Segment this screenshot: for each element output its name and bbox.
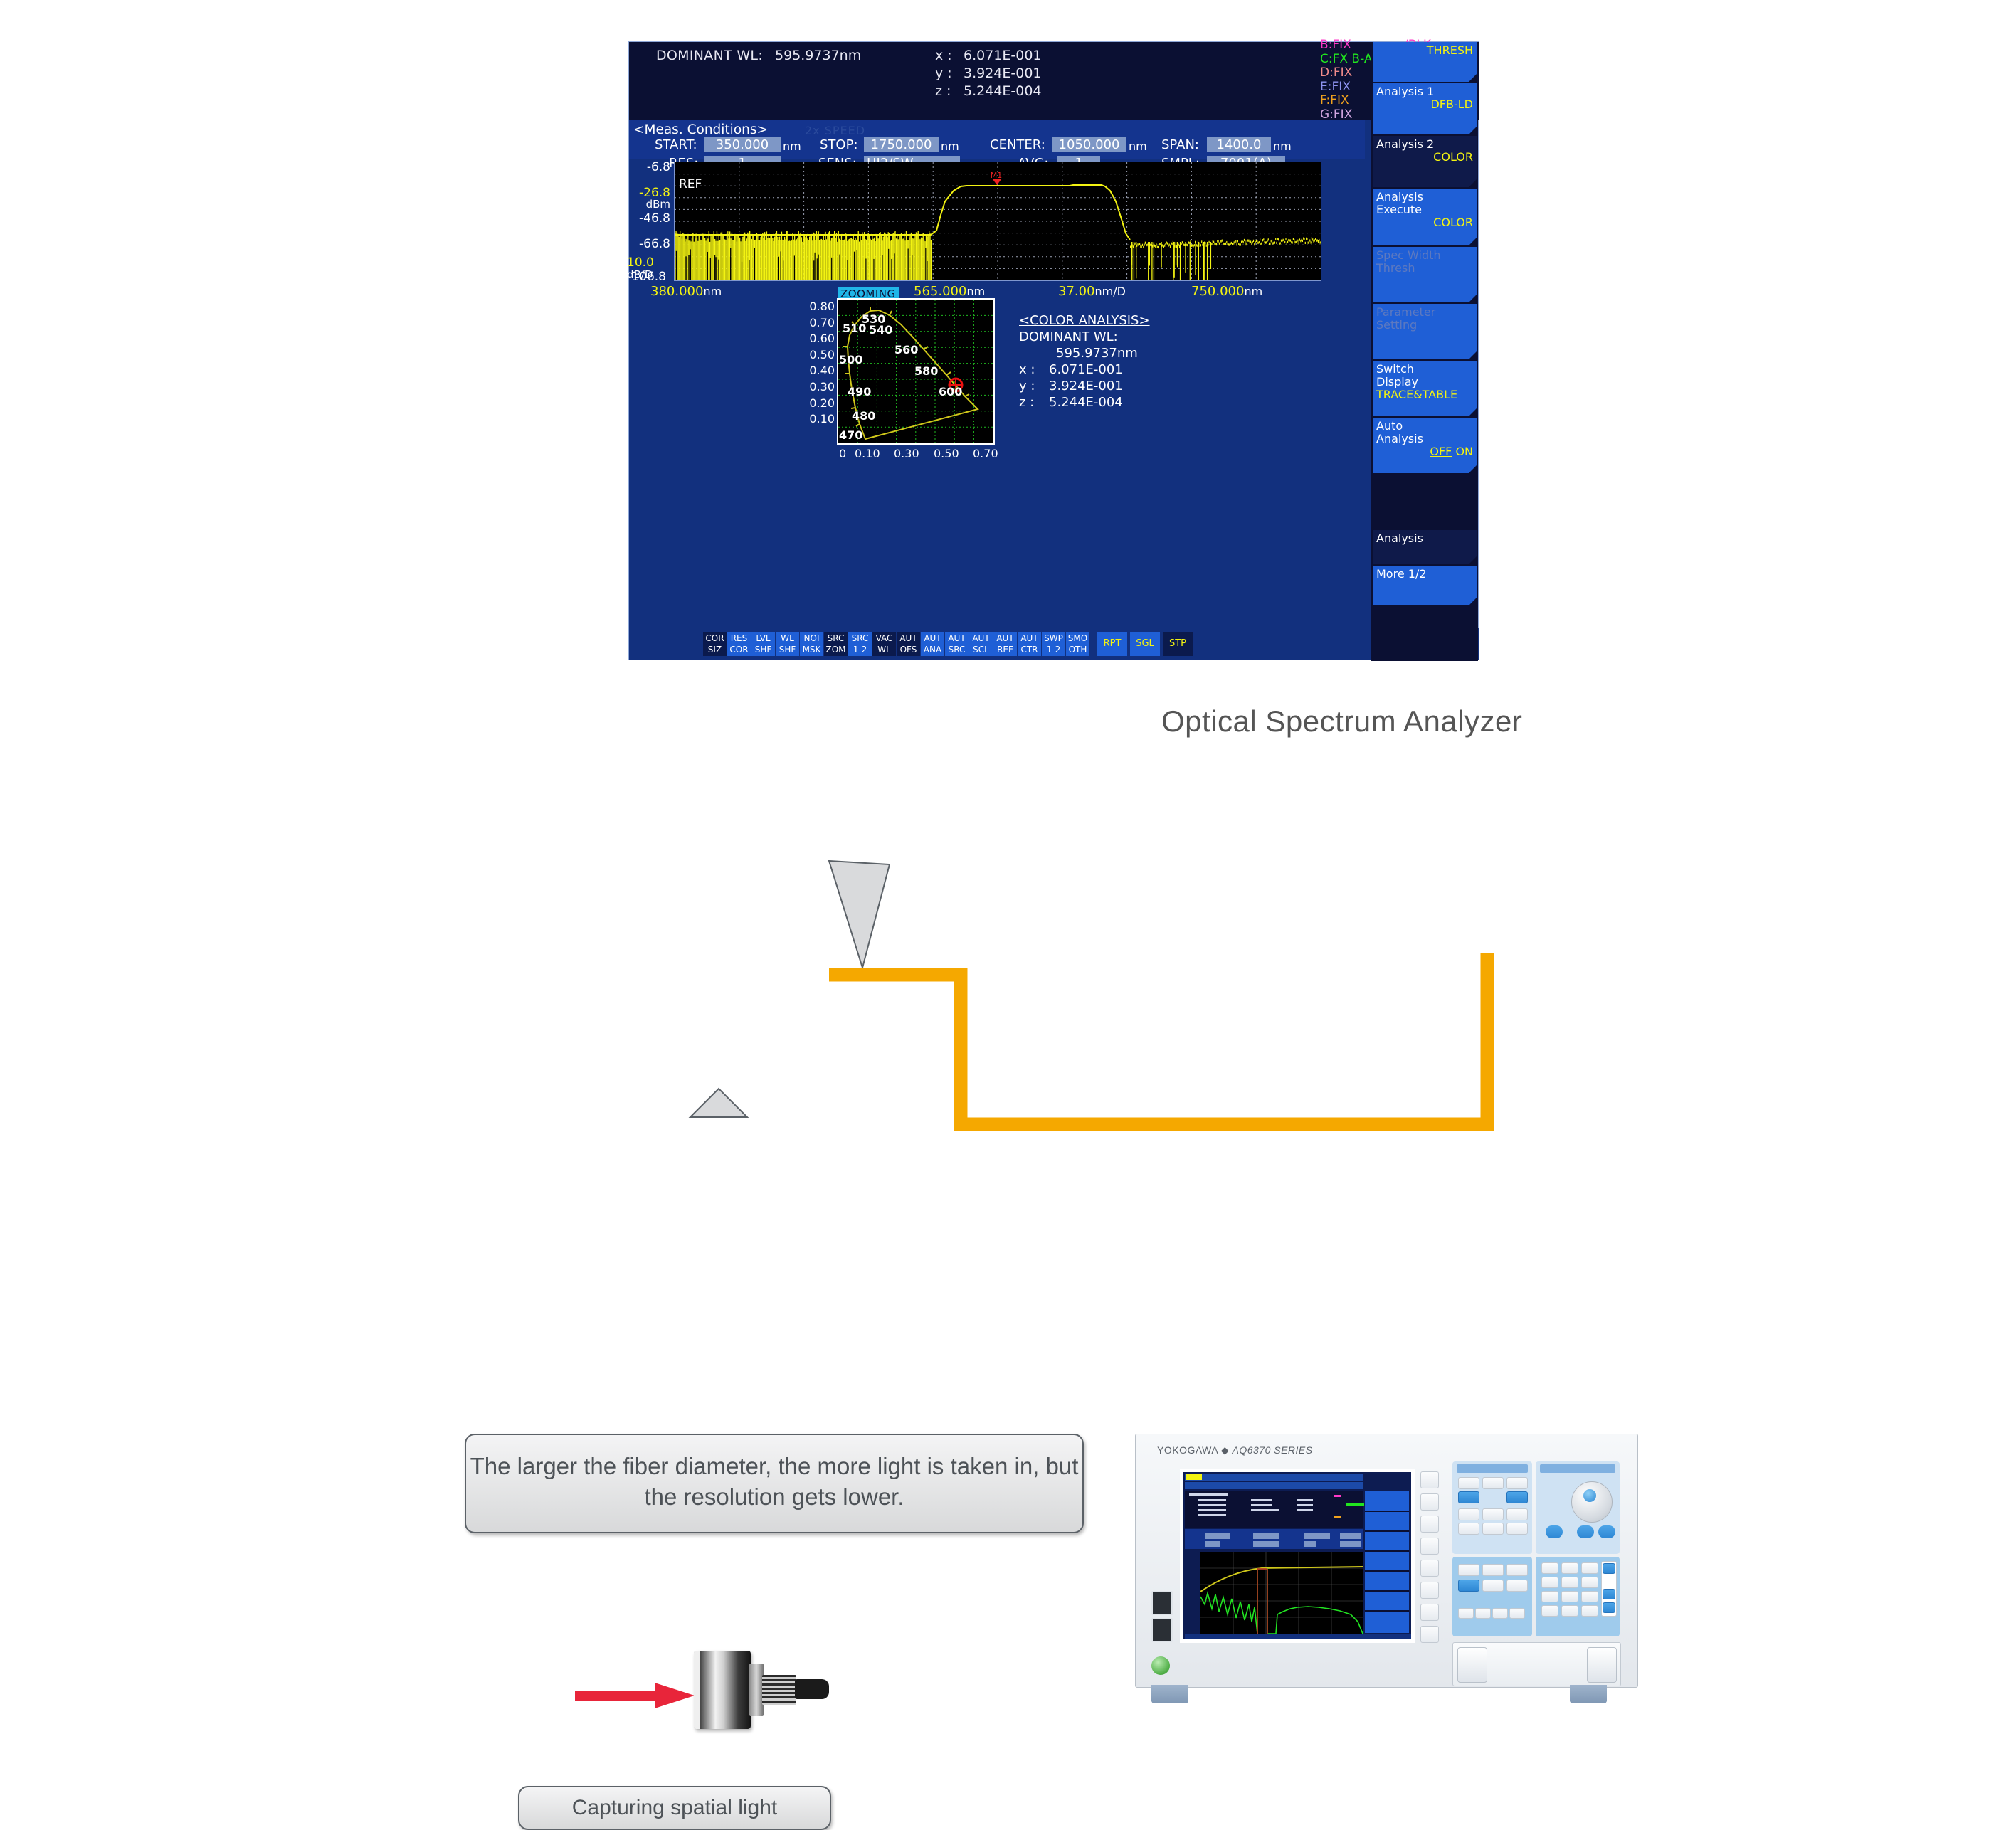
cie-y-tick: 0.60 bbox=[808, 332, 835, 345]
color-analysis-y: y :3.924E-001 bbox=[1019, 378, 1204, 394]
key-line-1: SWP bbox=[1042, 633, 1065, 644]
cie-wavelength-label: 490 bbox=[848, 385, 871, 398]
softkey-title-line: Auto bbox=[1376, 420, 1473, 433]
keypanel-setting-header bbox=[1457, 1464, 1528, 1473]
softkey-corner-icon bbox=[1469, 556, 1477, 564]
x-stop-label: 750.000nm bbox=[1191, 284, 1262, 299]
keypanel-knob-header bbox=[1540, 1464, 1615, 1473]
key-trace[interactable] bbox=[1506, 1508, 1528, 1520]
meas-conditions-title: <Meas. Conditions> bbox=[633, 122, 768, 137]
device-brand-label: YOKOGAWA ◆ AQ6370 SERIES bbox=[1157, 1444, 1313, 1456]
key-other-2[interactable] bbox=[1475, 1608, 1491, 1619]
key-peak-search[interactable] bbox=[1482, 1523, 1504, 1535]
device-display[interactable] bbox=[1180, 1469, 1415, 1643]
cie-x-tick: 0.30 bbox=[894, 447, 919, 460]
key-other-1[interactable] bbox=[1458, 1608, 1474, 1619]
keypanel-setting bbox=[1452, 1461, 1532, 1554]
cie-wavelength-label: 480 bbox=[852, 409, 875, 423]
key-line-1: SMO bbox=[1066, 633, 1089, 644]
y-tick-0: -6.8 bbox=[629, 160, 670, 174]
softkey-more-1-2[interactable]: More 1/2 bbox=[1373, 566, 1477, 605]
numkey-9[interactable] bbox=[1581, 1562, 1598, 1574]
bottom-key-noi-msk[interactable]: NOIMSK bbox=[800, 632, 823, 656]
bottom-key-aut-scl[interactable]: AUTSCL bbox=[969, 632, 993, 656]
incoming-light-arrow bbox=[575, 1683, 696, 1708]
softkey-1[interactable] bbox=[1420, 1471, 1439, 1488]
softkey-title-line: More 1/2 bbox=[1376, 568, 1473, 581]
collimator-barrel bbox=[694, 1651, 751, 1729]
softkey-3[interactable] bbox=[1420, 1516, 1439, 1533]
numkey-6[interactable] bbox=[1581, 1577, 1598, 1588]
color-analysis-title: <COLOR ANALYSIS> bbox=[1019, 312, 1204, 329]
cie-x-tick: 0.50 bbox=[934, 447, 959, 460]
softkey-sub-on[interactable]: ON bbox=[1455, 445, 1473, 458]
start-unit: nm bbox=[783, 139, 801, 153]
y-tick-3: -66.8 bbox=[629, 237, 670, 251]
softkey-7[interactable] bbox=[1420, 1604, 1439, 1621]
unit-key-2[interactable] bbox=[1603, 1589, 1615, 1599]
bottom-key-vac-wl[interactable]: VACWL bbox=[872, 632, 896, 656]
cie-y-tick: 0.30 bbox=[808, 380, 835, 393]
softkey-corner-icon bbox=[1469, 465, 1477, 473]
optical-port-panel bbox=[1452, 1642, 1621, 1686]
x-perdiv-label: 37.00nm/D bbox=[1058, 284, 1126, 299]
key-marker[interactable] bbox=[1458, 1523, 1479, 1535]
softkey-corner-icon bbox=[1469, 598, 1477, 605]
key-line-2: OFS bbox=[897, 644, 920, 655]
bottom-key-aut-ofs[interactable]: AUTOFS bbox=[897, 632, 920, 656]
color-analysis-readout: <COLOR ANALYSIS> DOMINANT WL: 595.9737nm… bbox=[1019, 312, 1204, 411]
bottom-key-smo-oth[interactable]: SMOOTH bbox=[1066, 632, 1089, 656]
header-x-row: x :6.071E-001 bbox=[935, 48, 1042, 63]
softkey-auto-analysis[interactable]: AutoAnalysisOFF ON bbox=[1373, 418, 1477, 473]
softkey-sub: COLOR bbox=[1376, 216, 1473, 229]
header-z-row: z :5.244E-004 bbox=[935, 83, 1042, 99]
softkey-title-line: Analysis 2 bbox=[1376, 138, 1473, 151]
key-line-1: AUT bbox=[897, 633, 920, 644]
osa-screenshot-panel: DOMINANT WL: 595.9737nm x :6.071E-001 y … bbox=[628, 41, 1479, 660]
softkey-sub-off[interactable]: OFF bbox=[1430, 445, 1452, 458]
softkey-corner-icon bbox=[1469, 351, 1477, 359]
softkey-thresh[interactable]: THRESH bbox=[1373, 42, 1477, 82]
softkey-title-line: Analysis bbox=[1376, 191, 1473, 203]
callout-fiber-diameter: The larger the fiber diameter, the more … bbox=[465, 1434, 1084, 1533]
softkey-title-line: Thresh bbox=[1376, 262, 1473, 275]
cie-chromaticity-diagram: 0.800.700.600.500.400.300.200.10 bbox=[811, 298, 996, 462]
collimator-lens-face bbox=[694, 1651, 700, 1729]
y-tick-2: -46.8 bbox=[629, 211, 670, 226]
key-auto[interactable] bbox=[1506, 1523, 1528, 1535]
bottom-key-aut-ref[interactable]: AUTREF bbox=[993, 632, 1017, 656]
usb-port-1[interactable] bbox=[1151, 1591, 1173, 1615]
key-line-1: AUT bbox=[993, 633, 1017, 644]
cie-y-tick: 0.70 bbox=[808, 316, 835, 329]
key-line-1: AUT bbox=[921, 633, 944, 644]
center-unit: nm bbox=[1129, 139, 1147, 153]
key-span[interactable] bbox=[1482, 1477, 1504, 1489]
numkey-0[interactable] bbox=[1541, 1605, 1558, 1617]
up-button[interactable] bbox=[1598, 1525, 1615, 1538]
softkey-title-line: Analysis 1 bbox=[1376, 85, 1473, 98]
trace-legend-name: C:FX B-A bbox=[1320, 53, 1372, 67]
key-line-2: SCL bbox=[969, 644, 993, 655]
span-label: SPAN: bbox=[1161, 137, 1199, 152]
fiber-and-tails bbox=[0, 669, 2016, 1237]
keypanel-system bbox=[1452, 1557, 1532, 1636]
softkey-analysis-execute[interactable]: AnalysisExecuteCOLOR bbox=[1373, 189, 1477, 245]
softkey-8[interactable] bbox=[1420, 1626, 1439, 1643]
key-line-2: COR bbox=[727, 644, 751, 655]
softkey-2[interactable] bbox=[1420, 1493, 1439, 1511]
cie-wavelength-label: 600 bbox=[939, 385, 962, 398]
numkey-2[interactable] bbox=[1561, 1591, 1578, 1602]
device-foot-left bbox=[1151, 1685, 1188, 1703]
key-line-2: MSK bbox=[800, 644, 823, 655]
cie-wavelength-label: 560 bbox=[894, 343, 918, 356]
knob-indicator bbox=[1583, 1489, 1596, 1502]
scale-value: 10.0 bbox=[627, 255, 668, 270]
spectrum-plot[interactable]: M1 bbox=[674, 162, 1321, 281]
key-print[interactable] bbox=[1482, 1580, 1504, 1592]
key-local[interactable] bbox=[1506, 1580, 1528, 1592]
cie-x-tick: 0.70 bbox=[973, 447, 998, 460]
meas-conditions-block: <Meas. Conditions> 2x SPEED START: 350.0… bbox=[629, 120, 1365, 159]
cie-y-tick: 0.10 bbox=[808, 412, 835, 425]
cie-y-tick: 0.50 bbox=[808, 348, 835, 361]
key-line-2: 1-2 bbox=[1042, 644, 1065, 655]
cie-wavelength-label: 540 bbox=[869, 323, 892, 337]
fiber-ferrule bbox=[762, 1675, 796, 1705]
bottom-key-bar: CORSIZRESCORLVLSHFWLSHFNOIMSKSRCZOMSRC1-… bbox=[629, 628, 1479, 660]
start-value[interactable]: 350.000 bbox=[704, 137, 781, 152]
key-level[interactable] bbox=[1506, 1477, 1528, 1489]
key-line-1: AUT bbox=[969, 633, 993, 644]
softkey-title-line: Analysis bbox=[1376, 433, 1473, 445]
color-analysis-z: z :5.244E-004 bbox=[1019, 394, 1204, 411]
key-setup[interactable] bbox=[1458, 1508, 1479, 1520]
softkey-6[interactable] bbox=[1420, 1582, 1439, 1599]
ref-line-label: REF bbox=[679, 177, 702, 191]
key-line-1: SRC bbox=[848, 633, 872, 644]
bottom-key-wl-shf[interactable]: WLSHF bbox=[776, 632, 799, 656]
y-unit-dbm: dBm bbox=[629, 198, 670, 211]
softkey-sub: THRESH bbox=[1376, 44, 1473, 57]
numkey-sign[interactable] bbox=[1581, 1605, 1598, 1617]
bottom-key-rpt[interactable]: RPT bbox=[1097, 632, 1127, 656]
softkey-corner-icon bbox=[1469, 295, 1477, 302]
span-unit: nm bbox=[1273, 139, 1292, 153]
key-appl[interactable] bbox=[1458, 1564, 1479, 1576]
numkey-4[interactable] bbox=[1541, 1577, 1558, 1588]
numkey-5[interactable] bbox=[1561, 1577, 1578, 1588]
numkey-dot[interactable] bbox=[1561, 1605, 1578, 1617]
stop-label: STOP: bbox=[820, 137, 858, 152]
key-line-2: ZOM bbox=[824, 644, 848, 655]
down-button[interactable] bbox=[1577, 1525, 1594, 1538]
keypanel-knob bbox=[1536, 1461, 1620, 1554]
key-file[interactable] bbox=[1506, 1564, 1528, 1576]
key-line-1: SRC bbox=[824, 633, 848, 644]
cie-x-tick: 0.10 bbox=[855, 447, 880, 460]
cie-y-tick: 0.80 bbox=[808, 300, 835, 313]
key-line-2: OTH bbox=[1066, 644, 1089, 655]
softkey-sub: DFB-LD bbox=[1376, 98, 1473, 111]
peak-marker: M1 bbox=[991, 171, 1003, 185]
device-chassis: YOKOGAWA ◆ AQ6370 SERIES bbox=[1135, 1434, 1638, 1688]
spectrum-graph-area: -6.8 -26.8 dBm -46.8 -66.8 10.0 dB/D -10… bbox=[629, 162, 1365, 284]
softkey-title-line: Switch bbox=[1376, 363, 1473, 376]
numkey-1[interactable] bbox=[1541, 1591, 1558, 1602]
softkey-switch-display[interactable]: SwitchDisplayTRACE&TABLE bbox=[1373, 361, 1477, 416]
key-line-1: VAC bbox=[872, 633, 896, 644]
key-sweep[interactable] bbox=[1458, 1491, 1479, 1503]
usb-port-2[interactable] bbox=[1151, 1618, 1173, 1642]
trace-legend-name: B:FIX bbox=[1320, 38, 1351, 53]
stop-unit: nm bbox=[941, 139, 959, 153]
fiber-strain-boot bbox=[795, 1679, 829, 1699]
bottom-key-swp-1-2[interactable]: SWP1-2 bbox=[1042, 632, 1065, 656]
key-line-1: RES bbox=[727, 633, 751, 644]
trace-legend-name: F:FIX bbox=[1320, 94, 1349, 108]
key-line-2: SIZ bbox=[703, 644, 727, 655]
bottom-key-aut-ctr[interactable]: AUTCTR bbox=[1018, 632, 1041, 656]
osa-device: YOKOGAWA ◆ AQ6370 SERIES bbox=[1124, 1434, 1647, 1704]
softkey-title-line: Parameter bbox=[1376, 306, 1473, 319]
device-foot-right bbox=[1570, 1685, 1607, 1703]
fiber-collimator bbox=[694, 1651, 808, 1736]
key-center[interactable] bbox=[1458, 1477, 1479, 1489]
unit-key-3[interactable] bbox=[1603, 1602, 1615, 1613]
softkey-corner-icon bbox=[1469, 74, 1477, 82]
bottom-key-src-zom[interactable]: SRCZOM bbox=[824, 632, 848, 656]
speed-tag: 2x SPEED bbox=[805, 124, 865, 137]
trace-legend-name: D:FIX bbox=[1320, 66, 1352, 80]
callout-capturing-light: Capturing spatial light bbox=[518, 1786, 831, 1830]
numkey-8[interactable] bbox=[1561, 1562, 1578, 1574]
optical-input-port[interactable] bbox=[1457, 1647, 1487, 1683]
key-line-1: LVL bbox=[751, 633, 775, 644]
header-dominant-wl-value: 595.9737nm bbox=[775, 48, 861, 63]
softkey-sub: TRACE&TABLE bbox=[1376, 388, 1473, 401]
stop-value[interactable]: 1750.000 bbox=[864, 137, 939, 152]
bottom-key-res-cor[interactable]: RESCOR bbox=[727, 632, 751, 656]
collimator-flange bbox=[749, 1664, 764, 1716]
key-line-1: WL bbox=[776, 633, 799, 644]
y-tick-4: -106.8 bbox=[625, 270, 666, 284]
power-button[interactable] bbox=[1151, 1656, 1170, 1675]
calibration-output-port[interactable] bbox=[1587, 1647, 1617, 1683]
unit-key-1[interactable] bbox=[1603, 1563, 1615, 1574]
bottom-key-stp[interactable]: STP bbox=[1163, 632, 1193, 656]
key-memory[interactable] bbox=[1482, 1564, 1504, 1576]
softkey-analysis[interactable]: Analysis bbox=[1373, 530, 1477, 564]
key-line-1: AUT bbox=[1018, 633, 1041, 644]
softkey-spec-width-thresh[interactable]: Spec WidthThresh bbox=[1373, 247, 1477, 302]
color-analysis-dwl-value: 595.9737nm bbox=[1019, 345, 1204, 361]
start-label: START: bbox=[655, 137, 697, 152]
soft-menu-panel: THRESHAnalysis 1DFB-LDAnalysis 2COLORAna… bbox=[1371, 42, 1478, 661]
x-center-label: 565.000nm bbox=[914, 284, 985, 299]
key-line-1: NOI bbox=[800, 633, 823, 644]
softkey-title-line: Execute bbox=[1376, 203, 1473, 216]
svg-text:M1: M1 bbox=[991, 171, 1003, 180]
diagram-area: The larger the fiber diameter, the more … bbox=[0, 669, 2016, 1237]
softkey-title-line: Spec Width bbox=[1376, 249, 1473, 262]
spectrum-svg: M1 bbox=[675, 162, 1321, 280]
softkey-title-line: Setting bbox=[1376, 319, 1473, 332]
span-value[interactable]: 1400.0 bbox=[1207, 137, 1271, 152]
softkey-title-line: Analysis bbox=[1376, 532, 1473, 545]
rotary-knob[interactable] bbox=[1571, 1481, 1613, 1523]
numkey-3[interactable] bbox=[1581, 1591, 1598, 1602]
key-line-2: 1-2 bbox=[848, 644, 872, 655]
softkey-analysis-1[interactable]: Analysis 1DFB-LD bbox=[1373, 83, 1477, 134]
osa-analysis-header: DOMINANT WL: 595.9737nm x :6.071E-001 y … bbox=[629, 42, 1479, 120]
x-start-label: 380.000nm bbox=[650, 284, 722, 299]
softkey-4[interactable] bbox=[1420, 1538, 1439, 1555]
key-line-2: ANA bbox=[921, 644, 944, 655]
softkey-corner-icon bbox=[1469, 127, 1477, 134]
key-line-1: AUT bbox=[945, 633, 969, 644]
bottom-key-cor-siz[interactable]: CORSIZ bbox=[703, 632, 727, 656]
center-label: CENTER: bbox=[990, 137, 1045, 152]
softkey-title-line: Display bbox=[1376, 376, 1473, 388]
bottom-key-sgl[interactable]: SGL bbox=[1130, 632, 1160, 656]
device-side-softkeys[interactable] bbox=[1420, 1471, 1439, 1642]
trace-legend-name: E:FIX bbox=[1320, 80, 1351, 95]
meas-row-1: START: 350.000 nm STOP: 1750.000 nm CENT… bbox=[629, 137, 1365, 155]
key-line-2: SRC bbox=[945, 644, 969, 655]
header-y-row: y :3.924E-001 bbox=[935, 65, 1042, 81]
key-peak[interactable] bbox=[1506, 1491, 1528, 1503]
key-system[interactable] bbox=[1458, 1580, 1479, 1592]
softkey-analysis-2[interactable]: Analysis 2COLOR bbox=[1373, 136, 1477, 187]
header-dominant-wl-label: DOMINANT WL: bbox=[656, 48, 763, 63]
key-line-2: SHF bbox=[776, 644, 799, 655]
cie-y-tick: 0.40 bbox=[808, 364, 835, 377]
center-value[interactable]: 1050.000 bbox=[1052, 137, 1126, 152]
key-other-4[interactable] bbox=[1509, 1608, 1525, 1619]
key-line-2: SHF bbox=[751, 644, 775, 655]
numkey-7[interactable] bbox=[1541, 1562, 1558, 1574]
color-analysis-dwl-label: DOMINANT WL: bbox=[1019, 329, 1204, 345]
device-display-svg bbox=[1183, 1472, 1411, 1639]
bottom-key-src-1-2[interactable]: SRC1-2 bbox=[848, 632, 872, 656]
color-analysis-x: x :6.071E-001 bbox=[1019, 361, 1204, 378]
cie-wavelength-label: 580 bbox=[914, 364, 938, 378]
bottom-key-lvl-shf[interactable]: LVLSHF bbox=[751, 632, 775, 656]
key-line-2: WL bbox=[872, 644, 896, 655]
key-line-1: COR bbox=[703, 633, 727, 644]
bottom-key-aut-ana[interactable]: AUTANA bbox=[921, 632, 944, 656]
softkey-corner-icon bbox=[1469, 408, 1477, 416]
cie-x-tick: 0 bbox=[839, 447, 846, 460]
key-line-2: CTR bbox=[1018, 644, 1041, 655]
softkey-corner-icon bbox=[1469, 179, 1477, 187]
cie-y-tick: 0.20 bbox=[808, 396, 835, 410]
softkey-5[interactable] bbox=[1420, 1560, 1439, 1577]
softkey-sub: COLOR bbox=[1376, 151, 1473, 164]
key-line-2: REF bbox=[993, 644, 1017, 655]
key-other-3[interactable] bbox=[1492, 1608, 1508, 1619]
cie-wavelength-label: 470 bbox=[839, 428, 862, 442]
softkey-corner-icon bbox=[1469, 238, 1477, 245]
bottom-key-aut-src[interactable]: AUTSRC bbox=[945, 632, 969, 656]
key-display[interactable] bbox=[1482, 1508, 1504, 1520]
keypanel-numeric bbox=[1536, 1557, 1620, 1636]
softkey-parameter-setting[interactable]: ParameterSetting bbox=[1373, 304, 1477, 359]
enter-button[interactable] bbox=[1546, 1525, 1563, 1538]
softkey-sub: OFF ON bbox=[1376, 445, 1473, 458]
cie-wavelength-label: 500 bbox=[839, 353, 862, 366]
